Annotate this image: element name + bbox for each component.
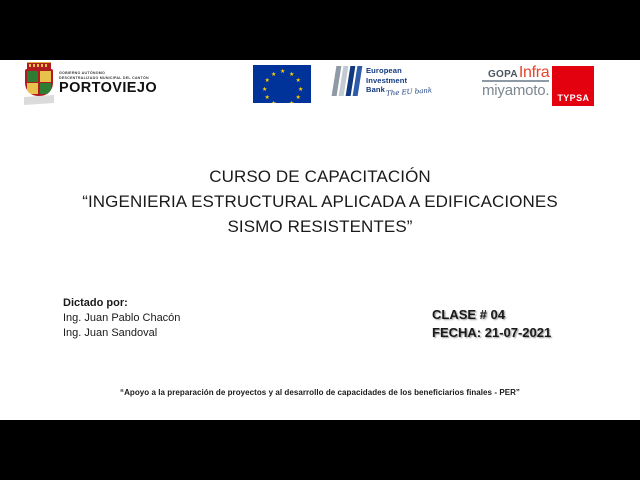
class-info-block: CLASE # 04 FECHA: 21-07-2021 bbox=[432, 306, 551, 342]
logo-bar: GOBIERNO AUTÓNOMO DESCENTRALIZADO MUNICI… bbox=[0, 60, 640, 116]
eib-line1: European bbox=[366, 66, 407, 76]
title-line-1: CURSO DE CAPACITACIÓN bbox=[0, 164, 640, 189]
presenters-label: Dictado por: bbox=[63, 296, 180, 311]
consortium-logo: GOPA Infra miyamoto. TYPSA bbox=[482, 65, 594, 106]
slide-viewport: GOBIERNO AUTÓNOMO DESCENTRALIZADO MUNICI… bbox=[0, 0, 640, 480]
miyamoto-word: miyamoto. bbox=[482, 83, 549, 98]
eib-bars-icon bbox=[334, 66, 360, 96]
title-line-3: SISMO RESISTENTES” bbox=[0, 214, 640, 239]
eib-tagline: The EU bank bbox=[386, 86, 433, 97]
portoviejo-logo: GOBIERNO AUTÓNOMO DESCENTRALIZADO MUNICI… bbox=[24, 62, 157, 106]
presenter-name-1: Ing. Juan Pablo Chacón bbox=[63, 311, 180, 326]
letterbox-top bbox=[0, 0, 640, 60]
infra-word: Infra bbox=[519, 65, 550, 80]
presenter-name-2: Ing. Juan Sandoval bbox=[63, 326, 180, 341]
slide-title: CURSO DE CAPACITACIÓN “INGENIERIA ESTRUC… bbox=[0, 164, 640, 239]
letterbox-bottom bbox=[0, 420, 640, 480]
european-union-flag-icon: ★ ★ ★ ★ ★ ★ ★ ★ ★ ★ ★ ★ bbox=[253, 65, 311, 103]
presenters-block: Dictado por: Ing. Juan Pablo Chacón Ing.… bbox=[63, 296, 180, 341]
title-line-2: “INGENIERIA ESTRUCTURAL APLICADA A EDIFI… bbox=[0, 189, 640, 214]
portoviejo-wordmark: GOBIERNO AUTÓNOMO DESCENTRALIZADO MUNICI… bbox=[59, 72, 157, 96]
european-investment-bank-logo: European Investment Bank The EU bank bbox=[334, 66, 407, 96]
portoviejo-name: PORTOVIEJO bbox=[59, 81, 157, 96]
gopa-word: GOPA bbox=[488, 70, 518, 80]
class-number: CLASE # 04 bbox=[432, 306, 551, 324]
gopa-infra-miyamoto-wordmark: GOPA Infra miyamoto. bbox=[482, 65, 549, 98]
portoviejo-coat-of-arms-icon bbox=[24, 62, 54, 106]
footer-note: “Apoyo a la preparación de proyectos y a… bbox=[0, 388, 640, 397]
typsa-logo: TYPSA bbox=[552, 66, 594, 106]
eib-line2: Investment bbox=[366, 76, 407, 86]
presentation-slide: GOBIERNO AUTÓNOMO DESCENTRALIZADO MUNICI… bbox=[0, 60, 640, 420]
class-date: FECHA: 21-07-2021 bbox=[432, 324, 551, 342]
typsa-word: TYPSA bbox=[552, 93, 594, 103]
